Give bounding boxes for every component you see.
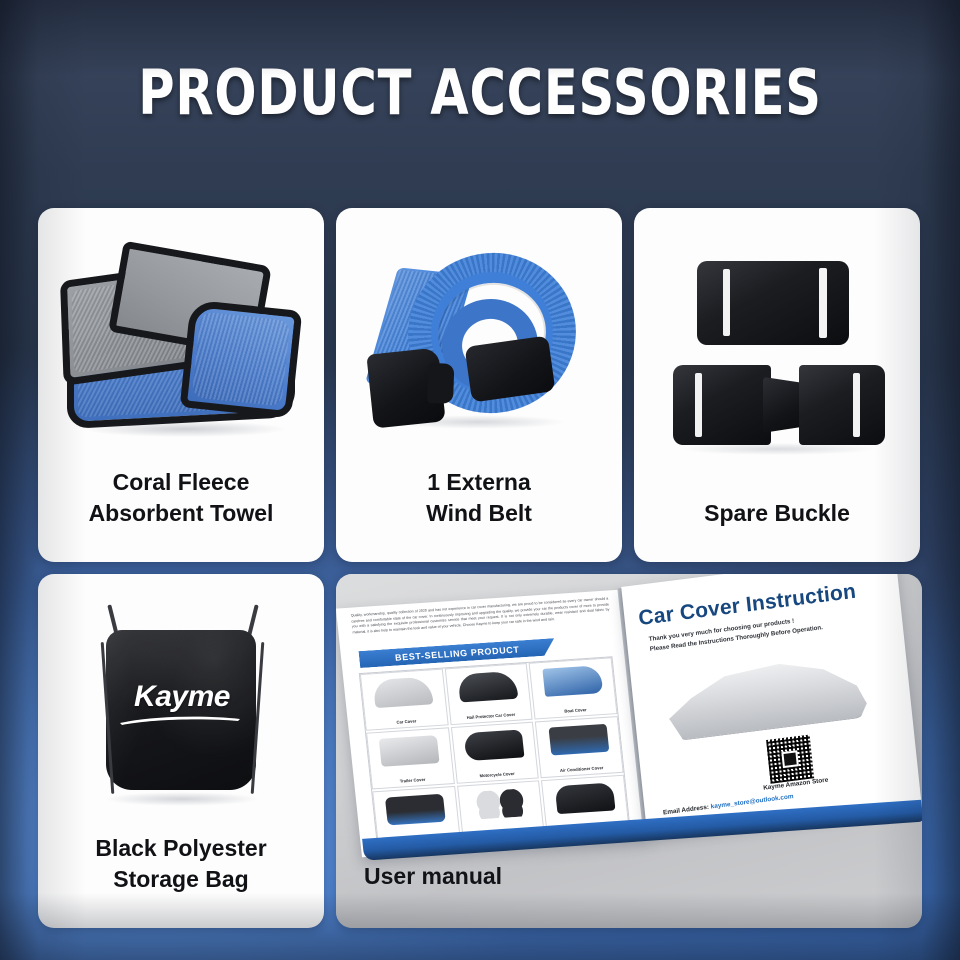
product-cell: Hail Protector Car Cover xyxy=(444,663,533,725)
tire-cover-thumb xyxy=(385,794,446,826)
card-caption: 1 Externa Wind Belt xyxy=(336,467,622,562)
buckle-female-half xyxy=(673,365,771,445)
product-label: Air Conditioner Cover xyxy=(560,765,604,773)
product-label: Car Cover xyxy=(396,718,417,724)
card-caption: Coral Fleece Absorbent Towel xyxy=(38,467,324,562)
towel-illustration xyxy=(61,255,301,435)
caption-line-2: Wind Belt xyxy=(346,498,612,528)
product-cell: Boat Cover xyxy=(529,657,617,719)
ac-cover-thumb xyxy=(548,724,609,756)
product-cell: Car Cover xyxy=(360,669,448,731)
accessory-card-spare-buckle[interactable]: Spare Buckle xyxy=(634,208,920,562)
booklet-right-page: Car Cover Instruction Thank you very muc… xyxy=(621,574,921,836)
product-cell: Motorcycle Cover xyxy=(451,722,540,784)
accessory-card-coral-fleece-towel[interactable]: Coral Fleece Absorbent Towel xyxy=(38,208,324,562)
storage-bag-illustration: Kayme xyxy=(76,602,286,812)
product-cell: Trailer Cover xyxy=(366,727,454,789)
accessory-card-grid: Coral Fleece Absorbent Towel xyxy=(38,208,922,928)
caption-line-1: Spare Buckle xyxy=(644,498,910,528)
product-label: Motorcycle Cover xyxy=(479,771,515,778)
trailer-cover-thumb xyxy=(379,735,440,767)
card-caption: Black Polyester Storage Bag xyxy=(38,833,324,928)
wind-belt-image xyxy=(336,208,622,467)
buckle-shadow xyxy=(683,443,873,455)
accessory-card-user-manual[interactable]: Quality, workmanship, quality collection… xyxy=(336,574,922,928)
caption-line-1: Black Polyester xyxy=(48,833,314,863)
spare-buckle-image xyxy=(634,208,920,498)
caption-line-1: User manual xyxy=(364,863,502,889)
open-booklet: Quality, workmanship, quality collection… xyxy=(336,574,922,863)
caption-line-2: Storage Bag xyxy=(48,864,314,894)
product-label: Boat Cover xyxy=(564,707,587,713)
belt-buckle-left xyxy=(366,347,445,428)
kayme-logo: Kayme xyxy=(120,680,244,714)
product-label: Trailer Cover xyxy=(400,777,426,784)
boat-cover-thumb xyxy=(542,665,603,697)
towel-image xyxy=(38,208,324,467)
booklet-left-page: Quality, workmanship, quality collection… xyxy=(336,590,649,858)
towel-shadow xyxy=(85,421,285,437)
card-caption: Spare Buckle xyxy=(634,498,920,562)
motorcycle-cover-thumb xyxy=(464,729,525,761)
product-accessories-poster: PRODUCT ACCESSORIES Coral Fleece Absor xyxy=(0,0,960,960)
caption-line-2: Absorbent Towel xyxy=(48,498,314,528)
card-row-bottom: Kayme Black Polyester Storage Bag xyxy=(38,574,922,928)
card-row-top: Coral Fleece Absorbent Towel xyxy=(38,208,922,562)
bag-shadow xyxy=(104,792,260,806)
car-cover-thumb xyxy=(373,676,434,708)
page-title: PRODUCT ACCESSORIES xyxy=(96,62,864,124)
car-silhouette-graphic xyxy=(665,649,869,741)
towel-blue-corner xyxy=(180,299,303,418)
card-caption: User manual xyxy=(364,863,502,890)
storage-bag-image: Kayme xyxy=(38,574,324,833)
belt-buckle-right xyxy=(465,335,556,402)
buckle-assembled xyxy=(697,261,849,345)
hail-protector-thumb xyxy=(457,671,518,703)
buckle-illustration xyxy=(667,253,887,453)
product-label: Hail Protector Car Cover xyxy=(466,712,515,720)
kayme-logo-swoosh xyxy=(118,714,242,726)
product-cell: Air Conditioner Cover xyxy=(535,716,623,778)
wind-belt-illustration xyxy=(364,243,594,433)
accessory-card-external-wind-belt[interactable]: 1 Externa Wind Belt xyxy=(336,208,622,562)
accessory-card-storage-bag[interactable]: Kayme Black Polyester Storage Bag xyxy=(38,574,324,928)
caption-line-1: Coral Fleece xyxy=(48,467,314,497)
buckle-housing-half xyxy=(799,365,885,445)
golf-car-cover-thumb xyxy=(554,783,615,815)
tire-covers-thumb xyxy=(470,788,531,820)
product-grid: Car Cover Hail Protector Car Cover Boat … xyxy=(359,656,631,849)
caption-line-1: 1 Externa xyxy=(346,467,612,497)
